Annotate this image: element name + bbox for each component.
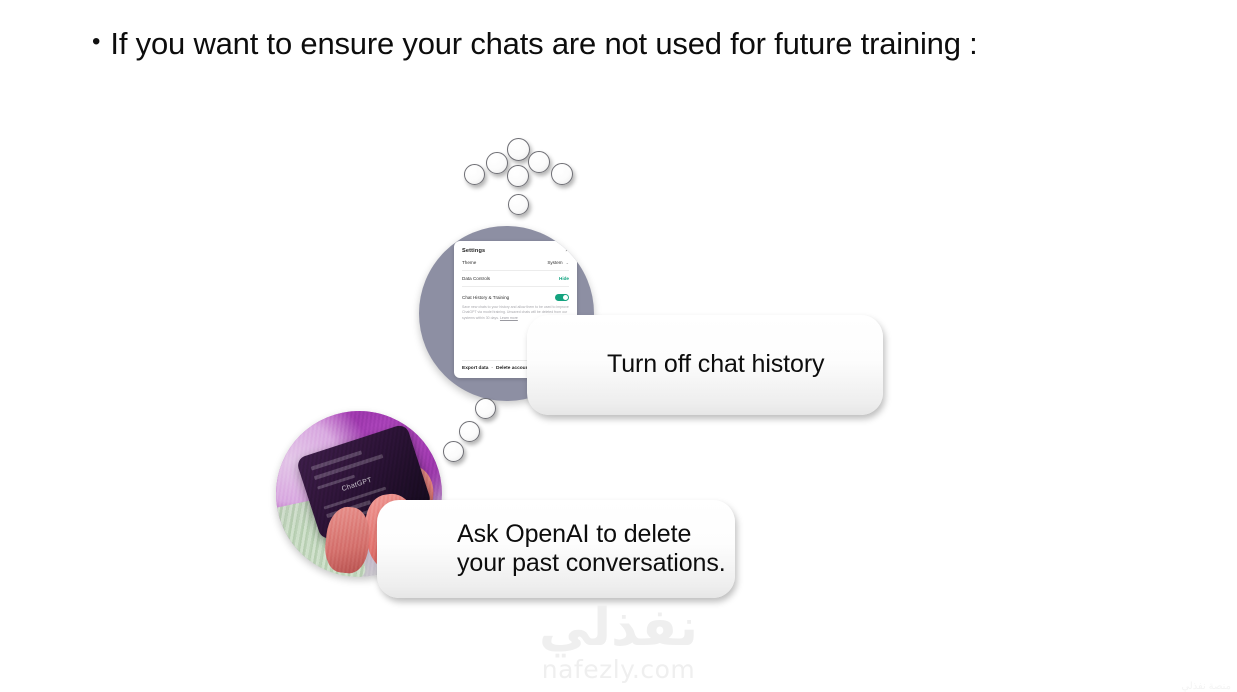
thought-circle-4: [464, 164, 485, 185]
chat-history-label: Chat History & Training: [462, 295, 509, 300]
speech-bubble-text: Turn off chat history: [607, 350, 824, 380]
corner-note: منصة نفذلي: [1181, 681, 1231, 692]
theme-value[interactable]: System ⌄: [547, 260, 569, 265]
page-title: If you want to ensure your chats are not…: [110, 27, 977, 61]
headline-bullet-line: • If you want to ensure your chats are n…: [92, 27, 978, 61]
theme-value-text: System: [547, 260, 562, 265]
thought-circle-9: [459, 421, 480, 442]
data-controls-hide-link[interactable]: Hide: [559, 276, 569, 281]
chevron-down-icon: ⌄: [566, 260, 569, 265]
delete-account-link[interactable]: Delete account: [496, 366, 530, 371]
settings-title: Settings: [462, 248, 485, 254]
settings-row-data-controls[interactable]: Data Controls Hide: [462, 271, 569, 287]
speech-bubble-text: Ask OpenAI to delete your past conversat…: [457, 520, 726, 579]
thought-circle-7: [508, 194, 529, 215]
export-data-link[interactable]: Export data: [462, 366, 488, 371]
theme-label: Theme: [462, 260, 476, 265]
watermark: نفذلي nafezly.com: [0, 602, 1237, 682]
settings-row-theme[interactable]: Theme System ⌄: [462, 255, 569, 271]
thought-circle-1: [507, 138, 530, 161]
thought-circle-10: [443, 441, 464, 462]
speech-bubble-turn-off-chat-history[interactable]: Turn off chat history: [527, 315, 883, 415]
close-icon[interactable]: ×: [565, 248, 569, 255]
toggle-knob: [563, 295, 569, 301]
thought-circle-3: [528, 151, 550, 173]
thought-circle-6: [551, 163, 573, 185]
thought-circle-5: [507, 165, 529, 187]
data-controls-label: Data Controls: [462, 276, 490, 281]
chat-history-toggle[interactable]: [555, 294, 569, 302]
footer-separator: -: [491, 366, 493, 371]
thought-circle-8: [475, 398, 496, 419]
watermark-arabic: نفذلي: [0, 602, 1237, 654]
watermark-latin: nafezly.com: [0, 657, 1237, 682]
settings-row-chat-history: Chat History & Training: [462, 287, 569, 305]
learn-more-link[interactable]: Learn more: [500, 316, 518, 320]
thought-circle-2: [486, 152, 508, 174]
slide-canvas: • If you want to ensure your chats are n…: [0, 0, 1237, 692]
speech-bubble-ask-openai-delete[interactable]: Ask OpenAI to delete your past conversat…: [377, 500, 735, 598]
bullet-point-icon: •: [92, 30, 100, 54]
